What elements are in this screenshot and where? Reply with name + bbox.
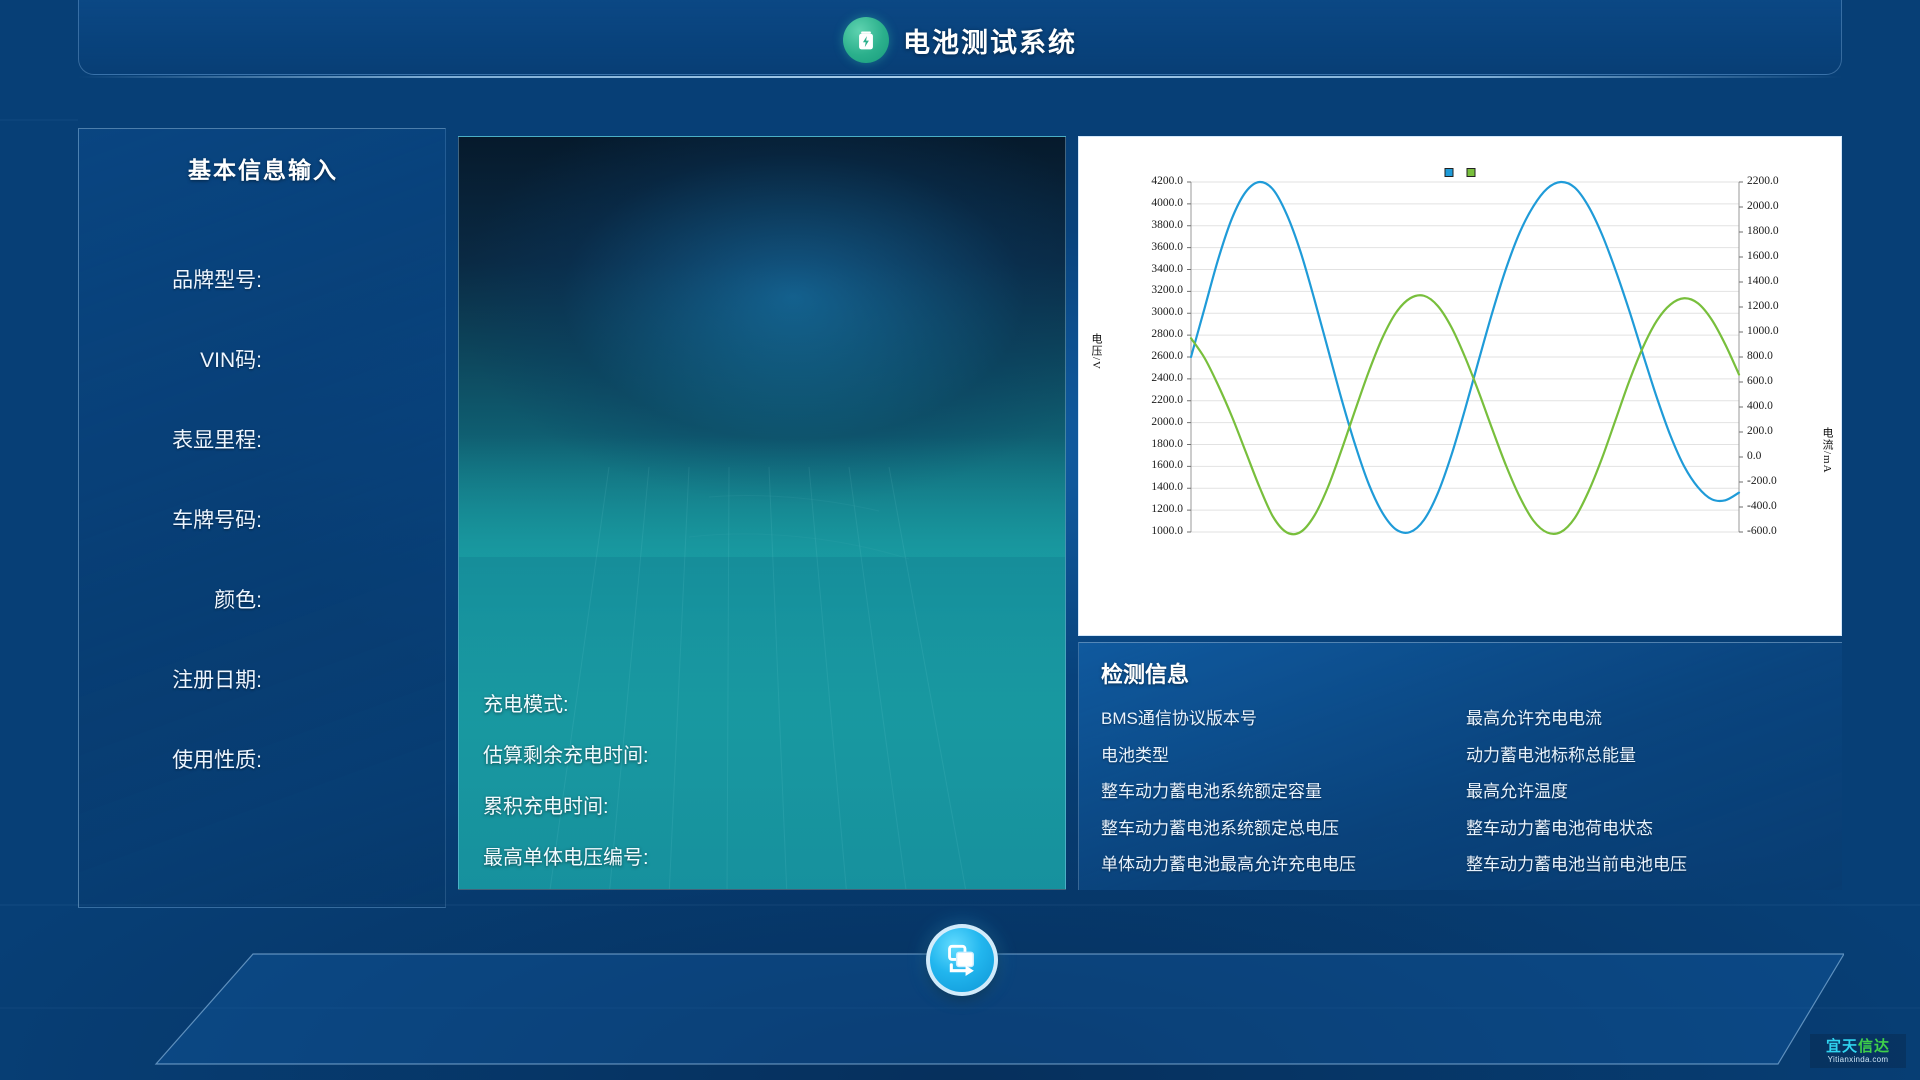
detection-item[interactable]: 整车动力蓄电池荷电状态 (1466, 811, 1831, 848)
label-cumulative-charge-time: 累积充电时间: (483, 790, 609, 819)
watermark-en: Yitianxinda.com (1828, 1055, 1889, 1064)
input-color[interactable] (273, 585, 423, 613)
y2-tick-label: 1800.0 (1747, 225, 1779, 237)
y2-tick-label: 200.0 (1747, 425, 1773, 437)
field-row-plate-number: 车牌号码: (79, 479, 447, 559)
charging-field-list: 充电模式: 估算剩余充电时间: 累积充电时间: 最高单体电压编号: 最高温度检测… (459, 677, 1066, 890)
y-axis-title-voltage: 电压/V (1088, 333, 1104, 370)
watermark-cn-part1: 宜天 (1826, 1038, 1858, 1055)
page-title: 电池测试系统 (903, 21, 1077, 60)
legend-marker-current[interactable] (1467, 168, 1476, 177)
field-row-max-temp-point-no: 最高温度检测点编号: (459, 881, 1066, 890)
refresh-copy-button[interactable] (926, 924, 998, 996)
field-row-brand-model: 品牌型号: (79, 239, 447, 319)
input-plate-number[interactable] (273, 505, 423, 533)
detection-info-title: 检测信息 (1101, 657, 1189, 689)
input-odometer[interactable] (273, 425, 423, 453)
y2-tick-label: -200.0 (1747, 475, 1777, 487)
detection-info-right-column: 最高允许充电电流 动力蓄电池标称总能量 最高允许温度 整车动力蓄电池荷电状态 整… (1466, 701, 1831, 884)
input-charge-mode[interactable] (577, 690, 697, 716)
input-register-date[interactable] (273, 665, 423, 693)
header: 电池测试系统 (0, 10, 1920, 70)
field-row-vin: VIN码: (79, 319, 447, 399)
input-vin[interactable] (273, 345, 423, 373)
y-tick-label: 2400.0 (1115, 372, 1183, 384)
y2-tick-label: 2000.0 (1747, 200, 1779, 212)
y-tick-label: 2200.0 (1115, 394, 1183, 406)
detection-info-columns: BMS通信协议版本号 电池类型 整车动力蓄电池系统额定容量 整车动力蓄电池系统额… (1101, 701, 1831, 884)
label-vin: VIN码: (200, 344, 262, 374)
y2-tick-label: 800.0 (1747, 350, 1773, 362)
chart-legend[interactable] (1445, 168, 1476, 177)
y2-tick-label: 1200.0 (1747, 300, 1779, 312)
label-brand-model: 品牌型号: (172, 264, 262, 294)
label-register-date: 注册日期: (172, 664, 262, 694)
y-tick-label: 1600.0 (1115, 459, 1183, 471)
detection-item[interactable]: 整车动力蓄电池当前电池电压 (1466, 847, 1831, 884)
y-tick-label: 2000.0 (1115, 416, 1183, 428)
basic-info-field-list: 品牌型号: VIN码: 表显里程: 车牌号码: 颜色: 注册日期: 使用性质: (79, 239, 447, 799)
y2-tick-label: 0.0 (1747, 450, 1761, 462)
refresh-copy-icon (943, 941, 981, 979)
y-tick-label: 1400.0 (1115, 481, 1183, 493)
y2-tick-label: 400.0 (1747, 400, 1773, 412)
basic-info-title: 基本信息输入 (79, 151, 447, 185)
label-color: 颜色: (214, 584, 262, 614)
y2-tick-label: -400.0 (1747, 500, 1777, 512)
input-usage-type[interactable] (273, 745, 423, 773)
y2-tick-label: 1000.0 (1747, 325, 1779, 337)
watermark: 宜天信达 Yitianxinda.com (1810, 1034, 1906, 1068)
y-tick-label: 3600.0 (1115, 241, 1183, 253)
y-tick-label: 1000.0 (1115, 525, 1183, 537)
y2-tick-label: -600.0 (1747, 525, 1777, 537)
field-row-usage-type: 使用性质: (79, 719, 447, 799)
input-remaining-charge-time[interactable] (657, 741, 777, 767)
y-tick-label: 1800.0 (1115, 438, 1183, 450)
y-tick-label: 3200.0 (1115, 284, 1183, 296)
input-cumulative-charge-time[interactable] (617, 792, 737, 818)
header-underline (78, 76, 1842, 78)
detection-info-left-column: BMS通信协议版本号 电池类型 整车动力蓄电池系统额定容量 整车动力蓄电池系统额… (1101, 701, 1466, 884)
watermark-cn: 宜天信达 (1826, 1039, 1890, 1055)
y-tick-label: 3000.0 (1115, 306, 1183, 318)
y2-tick-label: 1400.0 (1747, 275, 1779, 287)
input-max-cell-voltage-no[interactable] (657, 843, 777, 869)
y-tick-label: 2600.0 (1115, 350, 1183, 362)
legend-marker-voltage[interactable] (1445, 168, 1454, 177)
field-row-register-date: 注册日期: (79, 639, 447, 719)
detection-item[interactable]: 最高允许充电电流 (1466, 701, 1831, 738)
y-tick-label: 1200.0 (1115, 503, 1183, 515)
label-plate-number: 车牌号码: (172, 504, 262, 534)
y2-tick-label: 600.0 (1747, 375, 1773, 387)
field-row-cumulative-charge-time: 累积充电时间: (459, 779, 1066, 830)
detection-item[interactable]: 最高允许温度 (1466, 774, 1831, 811)
y-tick-label: 2800.0 (1115, 328, 1183, 340)
label-usage-type: 使用性质: (172, 744, 262, 774)
field-row-max-cell-voltage-no: 最高单体电压编号: (459, 830, 1066, 881)
detection-info-panel: 检测信息 BMS通信协议版本号 电池类型 整车动力蓄电池系统额定容量 整车动力蓄… (1078, 642, 1842, 890)
y2-tick-label: 1600.0 (1747, 250, 1779, 262)
y-tick-label: 4200.0 (1115, 175, 1183, 187)
label-odometer: 表显里程: (172, 424, 262, 454)
detection-item[interactable]: 整车动力蓄电池系统额定总电压 (1101, 811, 1466, 848)
field-row-color: 颜色: (79, 559, 447, 639)
detection-item[interactable]: 整车动力蓄电池系统额定容量 (1101, 774, 1466, 811)
voltage-current-chart-panel[interactable]: 电压/V 电流/mA 4200.04000.03800.03600.03400.… (1078, 136, 1842, 636)
y-tick-label: 3400.0 (1115, 263, 1183, 275)
battery-icon (843, 17, 889, 63)
detection-item[interactable]: 单体动力蓄电池最高允许充电电压 (1101, 847, 1466, 884)
y-tick-label: 4000.0 (1115, 197, 1183, 209)
field-row-odometer: 表显里程: (79, 399, 447, 479)
watermark-cn-part2: 信达 (1858, 1038, 1890, 1055)
y2-tick-label: 2200.0 (1747, 175, 1779, 187)
y-tick-label: 3800.0 (1115, 219, 1183, 231)
detection-item[interactable]: 动力蓄电池标称总能量 (1466, 738, 1831, 775)
input-brand-model[interactable] (273, 265, 423, 293)
chart-plot-area (1079, 137, 1843, 637)
charging-status-panel: 充电模式: 估算剩余充电时间: 累积充电时间: 最高单体电压编号: 最高温度检测… (458, 136, 1066, 890)
detection-item[interactable]: BMS通信协议版本号 (1101, 701, 1466, 738)
chart-inner: 电压/V 电流/mA 4200.04000.03800.03600.03400.… (1079, 137, 1841, 635)
label-max-cell-voltage-no: 最高单体电压编号: (483, 841, 649, 870)
field-row-charge-mode: 充电模式: (459, 677, 1066, 728)
label-charge-mode: 充电模式: (483, 688, 569, 717)
detection-item[interactable]: 电池类型 (1101, 738, 1466, 775)
y-axis-title-current: 电流/mA (1819, 427, 1835, 474)
basic-info-panel: 基本信息输入 品牌型号: VIN码: 表显里程: 车牌号码: 颜色: 注册日期:… (78, 128, 446, 908)
label-remaining-charge-time: 估算剩余充电时间: (483, 739, 649, 768)
field-row-remaining-charge-time: 估算剩余充电时间: (459, 728, 1066, 779)
